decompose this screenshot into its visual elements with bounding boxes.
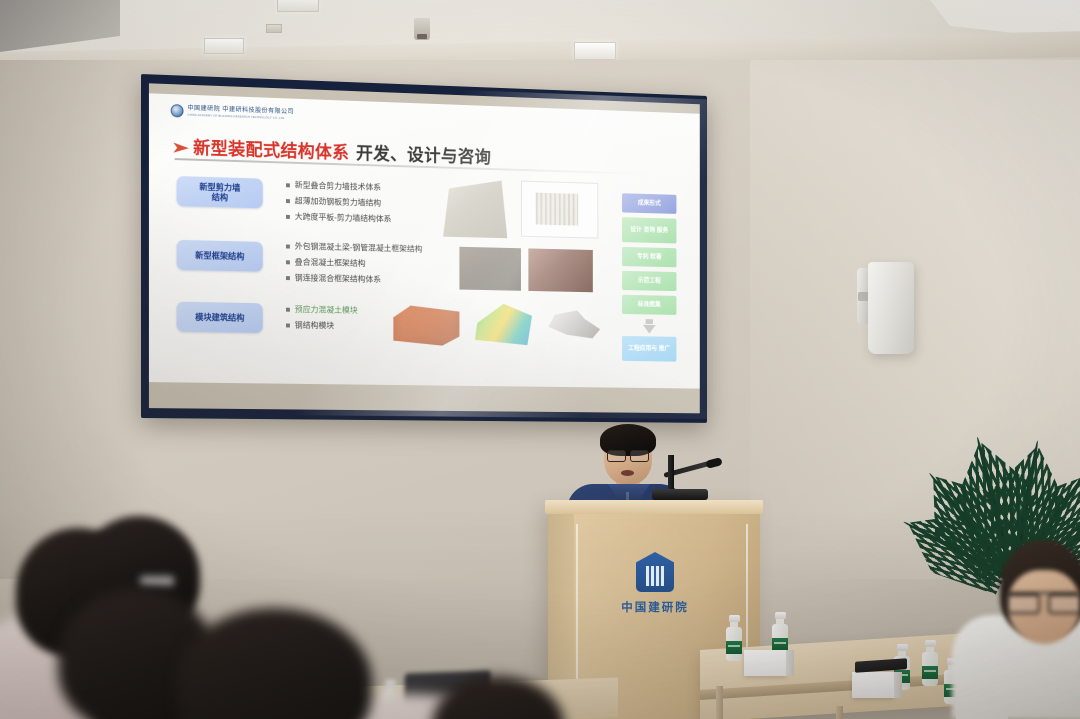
flow-box-outcome: 成果形式 (622, 193, 676, 214)
flow-box-demo-project: 示范工程 (622, 271, 676, 291)
presentation-slide: 中国建研院 中建研科技股份有限公司 CHINA ACADEMY OF BUILD… (149, 93, 700, 388)
podium-shield-icon (636, 552, 674, 592)
podium-top-surface (545, 500, 763, 514)
water-bottle (922, 640, 938, 686)
thumbnail-brick-module (393, 302, 459, 346)
podium-logo: 中国建研院 (620, 552, 690, 615)
screen-mat: 中国建研院 中建研科技股份有限公司 CHINA ACADEMY OF BUILD… (149, 83, 700, 413)
attendee-glasses-temple (140, 576, 174, 586)
chip-line-1: 新型剪力墙 (199, 181, 240, 193)
ceiling-light-panel (574, 42, 616, 60)
bullet-text: 钢连接混合框架结构体系 (295, 270, 381, 288)
company-logo-icon (171, 104, 184, 117)
conference-room-photo: 中国建研院 中建研科技股份有限公司 CHINA ACADEMY OF BUILD… (0, 0, 1080, 719)
thumbnail-fem-contour (473, 301, 533, 347)
bullet-text: 预应力混凝土模块 (295, 302, 358, 319)
attendee-right-glasses (1006, 592, 1078, 608)
bullet-square-icon (286, 183, 290, 187)
bullet-text: 钢结构模块 (295, 318, 334, 334)
chip-line-2: 结构 (212, 192, 228, 203)
ceiling-air-vent (266, 24, 282, 33)
microphone-neck (668, 455, 674, 493)
bullet-square-icon (286, 260, 290, 264)
bottle-body (922, 652, 938, 686)
chip-line-1: 模块建筑结构 (195, 312, 244, 323)
bottle-body (726, 627, 742, 661)
slide-bullets-frame: 外包钢混凝土梁-钢管混凝土框架结构 叠合混凝土框架结构 钢连接混合框架结构体系 (286, 239, 422, 289)
name-card-text (761, 658, 769, 668)
name-tent-card (852, 672, 894, 698)
slide-category-chip-modular: 模块建筑结构 (177, 302, 263, 333)
flow-box-design-consult: 设计 咨询 服务 (622, 217, 676, 243)
podium-logo-text: 中国建研院 (620, 599, 690, 615)
flow-box-standard-atlas: 标准图集 (622, 295, 676, 315)
bottle-label (726, 641, 742, 654)
table-leg (836, 706, 843, 719)
ceiling-light-panel (277, 0, 319, 12)
thumbnail-construction-site (459, 247, 521, 291)
bullet-square-icon (286, 323, 290, 327)
thumbnail-rebar-photo (528, 248, 592, 292)
thumbnail-steel-node (545, 307, 600, 346)
bullet-square-icon (286, 308, 290, 312)
slide-flow-column: 成果形式 设计 咨询 服务 专利 软著 示范工程 标准图集 工程应用与 推广 (622, 193, 676, 366)
name-tent-card (744, 650, 786, 676)
slide-category-chip-shear-wall: 新型剪力墙 结构 (177, 176, 263, 208)
flow-arrow-stem (646, 319, 653, 324)
thumbnail-structural-diagram (521, 181, 598, 239)
bullet-square-icon (286, 244, 290, 248)
name-card-text (869, 680, 877, 690)
slide-bullets-shear-wall: 新型叠合剪力墙技术体系 超薄加劲钢板剪力墙结构 大跨度平板-剪力墙结构体系 (286, 177, 391, 227)
projection-screen: 中国建研院 中建研科技股份有限公司 CHINA ACADEMY OF BUILD… (141, 74, 707, 423)
flow-box-patent-software: 专利 软著 (622, 247, 676, 267)
arrow-bullet-icon: ➤ (172, 140, 189, 154)
bullet-text: 叠合混凝土框架结构 (295, 255, 366, 272)
flow-arrow-icon (643, 325, 656, 334)
bottle-cap (729, 615, 740, 622)
chip-line-1: 新型框架结构 (195, 250, 244, 262)
bullet-text: 大跨度平板-剪力墙结构体系 (295, 209, 392, 227)
flow-box-application: 工程应用与 推广 (622, 336, 676, 362)
bullet-square-icon (286, 215, 290, 219)
water-bottle (726, 615, 742, 661)
bottle-cap (385, 680, 396, 687)
speaker-mouth (621, 470, 634, 476)
bottle-cap (897, 644, 908, 651)
slide-bullets-modular: 预应力混凝土模块 钢结构模块 (286, 302, 358, 335)
ceiling-light-panel (204, 38, 244, 54)
thumbnail-building-photo (439, 176, 512, 238)
microphone-base (652, 489, 708, 500)
table-leg (716, 686, 723, 719)
bullet-square-icon (286, 199, 290, 203)
slide-category-chip-frame: 新型框架结构 (177, 240, 263, 272)
bullet-square-icon (286, 276, 290, 280)
bottle-label (922, 666, 938, 679)
speaker-glasses (606, 450, 650, 460)
smoke-detector (414, 18, 430, 40)
bottle-cap (775, 612, 786, 619)
slide-company-logo: 中国建研院 中建研科技股份有限公司 CHINA ACADEMY OF BUILD… (171, 104, 294, 121)
hand-sanitizer-dispenser (868, 262, 914, 354)
bottle-cap (925, 640, 936, 647)
